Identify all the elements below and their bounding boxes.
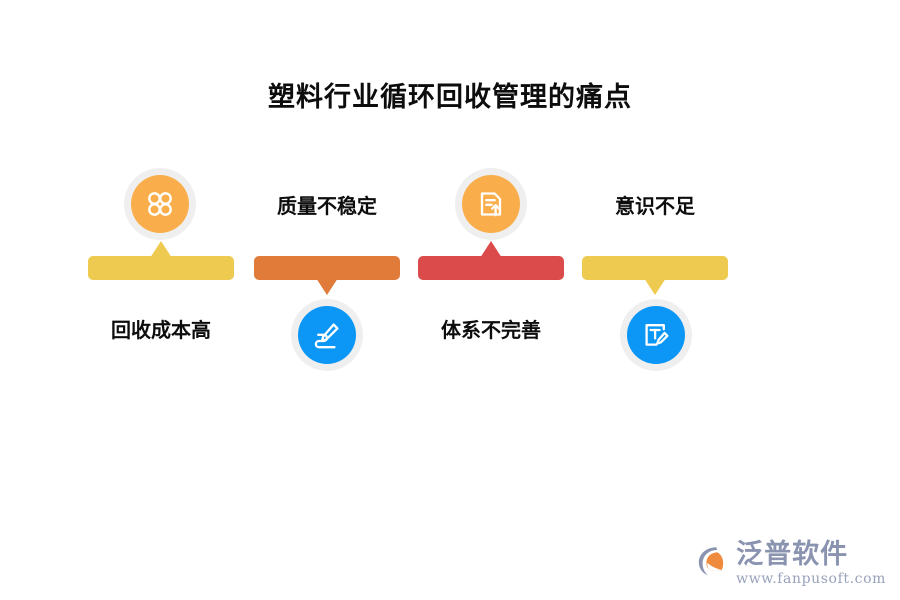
signature-pencil-icon — [310, 318, 344, 352]
text-document-edit-icon — [639, 318, 673, 352]
bar-segment-3 — [418, 256, 564, 280]
icon-bubble-4[interactable] — [620, 299, 692, 371]
item-label-4: 意识不足 — [582, 192, 728, 220]
bars-row — [0, 256, 900, 280]
page-title: 塑料行业循环回收管理的痛点 — [0, 80, 900, 116]
pointer-up-icon — [480, 241, 502, 258]
pointer-up-icon — [150, 241, 172, 258]
icon-disc-amber — [131, 175, 189, 233]
item-label-3: 体系不完善 — [418, 316, 564, 344]
pointer-down-icon — [316, 278, 338, 295]
icon-disc-amber — [462, 175, 520, 233]
bar-segment-2 — [254, 256, 400, 280]
four-dots-grid-icon — [143, 187, 177, 221]
icon-bubble-3[interactable] — [455, 168, 527, 240]
brand-url: www.fanpusoft.com — [736, 570, 886, 588]
icon-disc-blue — [298, 306, 356, 364]
bar-segment-1 — [88, 256, 234, 280]
brand-text-block: 泛普软件 www.fanpusoft.com — [736, 540, 886, 588]
pointer-down-icon — [644, 278, 666, 295]
item-label-2: 质量不稳定 — [254, 192, 400, 220]
icon-bubble-1[interactable] — [124, 168, 196, 240]
infographic-canvas: 塑料行业循环回收管理的痛点 — [0, 0, 900, 600]
item-label-1: 回收成本高 — [88, 316, 234, 344]
bar-segment-4 — [582, 256, 728, 280]
brand-watermark: 泛普软件 www.fanpusoft.com — [696, 540, 886, 588]
icon-disc-blue — [627, 306, 685, 364]
fanpu-swoosh-logo-icon — [696, 544, 730, 578]
brand-name: 泛普软件 — [736, 540, 848, 570]
icon-bubble-2[interactable] — [291, 299, 363, 371]
document-upload-icon — [474, 187, 508, 221]
